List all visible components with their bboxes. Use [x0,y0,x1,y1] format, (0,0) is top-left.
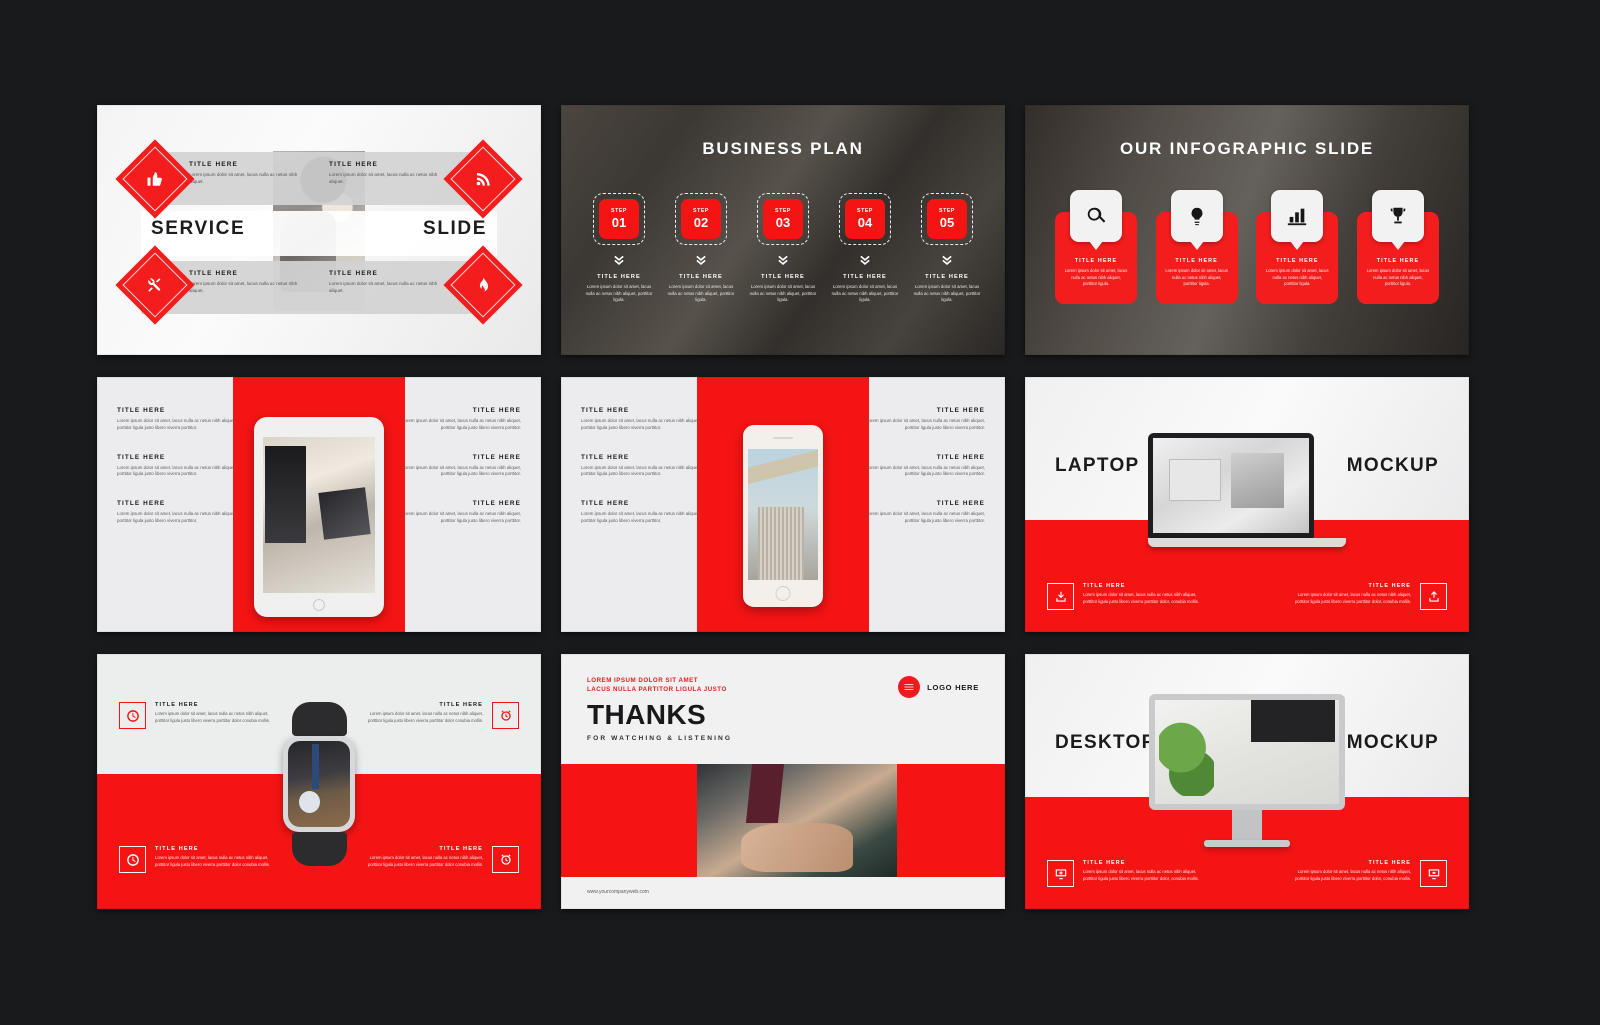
logo-label: LOGO HERE [927,683,979,692]
item-title: TITLE HERE [581,500,715,507]
chevron-double-down-icon [694,254,708,266]
item-title: TITLE HERE [851,407,985,414]
step-label: STEP [857,209,873,214]
item-title: TITLE HERE [117,454,251,461]
item-title: TITLE HERE [117,407,251,414]
slide-watch-mockup[interactable]: TITLE HERE Lorem ipsum dolor sit amet, l… [97,654,541,909]
laptop-feature-right: TITLE HERE Lorem ipsum dolor sit amet, l… [1287,583,1447,610]
card-text: Lorem ipsum dolor sit amet, lacus nulla … [1165,268,1229,288]
step-label: STEP [693,209,709,214]
step-dashed-frame: STEP 01 [593,193,645,245]
list-item: TITLE HERE Lorem ipsum dolor sit amet, l… [581,407,715,432]
card-text: Lorem ipsum dolor sit amet, lacus nulla … [1366,268,1430,288]
service-block-2: TITLE HERE Lorem ipsum dolor sit amet, l… [329,161,449,185]
slide-tablet-mockup[interactable]: TITLE HERE Lorem ipsum dolor sit amet, l… [97,377,541,632]
step-text: Lorem ipsum dolor sit amet, lacus nulla … [583,284,655,304]
item-text: Lorem ipsum dolor sit amet, lacus nulla … [117,465,251,479]
item-text: Lorem ipsum dolor sit amet, lacus nulla … [117,418,251,432]
feature-title: TITLE HERE [1287,583,1411,589]
thanks-url: www.yourcompanyweb.com [587,889,649,895]
lightbulb-icon [1171,190,1223,242]
feature-text: Lorem ipsum dolor sit amet, lacus nulla … [363,855,483,868]
item-title: TITLE HERE [117,500,251,507]
step-text: Lorem ipsum dolor sit amet, lacus nulla … [665,284,737,304]
step-label: STEP [775,209,791,214]
item-title: TITLE HERE [387,454,521,461]
slide-gallery-grid: TITLE HERE Lorem ipsum dolor sit amet, l… [97,105,1469,903]
desktop-word-left: DESKTOP [1055,732,1156,754]
step-title: TITLE HERE [911,274,983,280]
service-block-1-title: TITLE HERE [189,161,309,168]
item-title: TITLE HERE [851,454,985,461]
feature-text: Lorem ipsum dolor sit amet, lacus nulla … [155,711,275,724]
step-number: 05 [940,216,954,229]
service-block-3: TITLE HERE Lorem ipsum dolor sit amet, l… [189,270,309,294]
trophy-icon [1372,190,1424,242]
step-box: STEP 03 [763,199,803,239]
chevron-double-down-icon [858,254,872,266]
business-plan-steps: STEP 01 TITLE HERE Lorem ipsum dolor sit… [583,193,983,304]
step-box: STEP 04 [845,199,885,239]
phone-left-column: TITLE HERE Lorem ipsum dolor sit amet, l… [581,407,715,547]
laptop-feature-left: TITLE HERE Lorem ipsum dolor sit amet, l… [1047,583,1207,610]
thanks-handshake-photo [697,764,897,877]
laptop-lid [1148,433,1314,538]
step-box: STEP 01 [599,199,639,239]
item-text: Lorem ipsum dolor sit amet, lacus nulla … [387,418,521,432]
card-text: Lorem ipsum dolor sit amet, lacus nulla … [1064,268,1128,288]
feature-text-block: TITLE HERE Lorem ipsum dolor sit amet, l… [363,702,483,729]
phone-speaker [773,437,793,439]
logo-block[interactable]: LOGO HERE [898,676,979,698]
magnifier-icon [1070,190,1122,242]
watch-feature-bottom-right: TITLE HERE Lorem ipsum dolor sit amet, l… [363,846,519,873]
business-plan-title: BUSINESS PLAN [561,139,1005,159]
item-text: Lorem ipsum dolor sit amet, lacus nulla … [387,465,521,479]
feature-text: Lorem ipsum dolor sit amet, lacus nulla … [1287,869,1411,882]
item-text: Lorem ipsum dolor sit amet, lacus nulla … [387,511,521,525]
list-item: TITLE HERE Lorem ipsum dolor sit amet, l… [851,454,985,479]
service-block-4-title: TITLE HERE [329,270,449,277]
monitor-add-icon[interactable] [1047,860,1074,887]
thanks-subtitle-line2: LACUS NULLA PARTITOR LIGULA JUSTO [587,685,732,694]
list-item: TITLE HERE Lorem ipsum dolor sit amet, l… [117,500,251,525]
clock-icon[interactable] [119,846,146,873]
feature-text: Lorem ipsum dolor sit amet, lacus nulla … [363,711,483,724]
item-title: TITLE HERE [851,500,985,507]
list-item: TITLE HERE Lorem ipsum dolor sit amet, l… [387,407,521,432]
watch-screen [288,741,350,827]
service-block-1-text: Lorem ipsum dolor sit amet, lacus nulla … [189,171,309,185]
feature-text-block: TITLE HERE Lorem ipsum dolor sit amet, l… [363,846,483,873]
chevron-double-down-icon [940,254,954,266]
step-dashed-frame: STEP 02 [675,193,727,245]
watch-case [283,736,355,832]
item-text: Lorem ipsum dolor sit amet, lacus nulla … [581,418,715,432]
phone-home-button [776,586,791,601]
feature-text-block: TITLE HERE Lorem ipsum dolor sit amet, l… [155,846,275,873]
slide-phone-mockup[interactable]: TITLE HERE Lorem ipsum dolor sit amet, l… [561,377,1005,632]
chevron-double-down-icon [612,254,626,266]
upload-icon[interactable] [1420,583,1447,610]
feature-title: TITLE HERE [1083,583,1207,589]
feature-text-block: TITLE HERE Lorem ipsum dolor sit amet, l… [1287,860,1411,887]
list-item: TITLE HERE Lorem ipsum dolor sit amet, l… [581,500,715,525]
feature-title: TITLE HERE [363,702,483,708]
item-text: Lorem ipsum dolor sit amet, lacus nulla … [117,511,251,525]
step-title: TITLE HERE [665,274,737,280]
watch-strap-top [292,702,347,736]
desktop-feature-left: TITLE HERE Lorem ipsum dolor sit amet, l… [1047,860,1207,887]
chevron-double-down-icon [776,254,790,266]
tablet-device [254,417,384,617]
slide-service[interactable]: TITLE HERE Lorem ipsum dolor sit amet, l… [97,105,541,355]
step-text: Lorem ipsum dolor sit amet, lacus nulla … [911,284,983,304]
step-dashed-frame: STEP 03 [757,193,809,245]
smartwatch-device [283,702,355,866]
item-title: TITLE HERE [581,407,715,414]
monitor-body [1149,694,1345,810]
desktop-word-right: MOCKUP [1347,732,1439,754]
feature-text: Lorem ipsum dolor sit amet, lacus nulla … [155,855,275,868]
tablet-screen [263,437,375,593]
list-item: TITLE HERE Lorem ipsum dolor sit amet, l… [117,407,251,432]
step-label: STEP [939,209,955,214]
feature-text: Lorem ipsum dolor sit amet, lacus nulla … [1083,592,1207,605]
service-word-left: SERVICE [151,218,245,240]
step-dashed-frame: STEP 04 [839,193,891,245]
monitor-icon[interactable] [1420,860,1447,887]
feature-text: Lorem ipsum dolor sit amet, lacus nulla … [1287,592,1411,605]
step-box: STEP 02 [681,199,721,239]
thanks-header: LOREM IPSUM DOLOR SIT AMET LACUS NULLA P… [587,676,732,742]
feature-text-block: TITLE HERE Lorem ipsum dolor sit amet, l… [1083,583,1207,610]
step-item[interactable]: STEP 04 TITLE HERE Lorem ipsum dolor sit… [829,193,901,304]
watch-feature-bottom-left: TITLE HERE Lorem ipsum dolor sit amet, l… [119,846,275,873]
feature-title: TITLE HERE [1083,860,1207,866]
step-item[interactable]: STEP 03 TITLE HERE Lorem ipsum dolor sit… [747,193,819,304]
clock-icon[interactable] [119,702,146,729]
feature-text-block: TITLE HERE Lorem ipsum dolor sit amet, l… [1083,860,1207,887]
step-number: 02 [694,216,708,229]
step-item[interactable]: STEP 01 TITLE HERE Lorem ipsum dolor sit… [583,193,655,304]
card-text: Lorem ipsum dolor sit amet, lacus nulla … [1265,268,1329,288]
slide-infographic[interactable]: OUR INFOGRAPHIC SLIDE TITLE HERE Lorem i… [1025,105,1469,355]
watch-strap-bottom [292,832,347,866]
step-text: Lorem ipsum dolor sit amet, lacus nulla … [747,284,819,304]
phone-screen [748,449,818,580]
phone-device [743,425,823,607]
tablet-left-column: TITLE HERE Lorem ipsum dolor sit amet, l… [117,407,251,547]
item-text: Lorem ipsum dolor sit amet, lacus nulla … [851,511,985,525]
item-text: Lorem ipsum dolor sit amet, lacus nulla … [851,418,985,432]
monitor-neck [1232,810,1262,840]
feature-title: TITLE HERE [155,846,275,852]
desktop-feature-right: TITLE HERE Lorem ipsum dolor sit amet, l… [1287,860,1447,887]
waves-logo-icon [898,676,920,698]
item-title: TITLE HERE [581,454,715,461]
service-block-3-title: TITLE HERE [189,270,309,277]
list-item: TITLE HERE Lorem ipsum dolor sit amet, l… [581,454,715,479]
alarm-clock-icon[interactable] [492,846,519,873]
laptop-screen [1153,438,1309,533]
card-title: TITLE HERE [1165,258,1229,264]
service-word-right: SLIDE [423,218,487,240]
card-title: TITLE HERE [1366,258,1430,264]
thanks-headline: THANKS [587,699,732,731]
list-item: TITLE HERE Lorem ipsum dolor sit amet, l… [851,407,985,432]
download-icon[interactable] [1047,583,1074,610]
service-block-2-text: Lorem ipsum dolor sit amet, lacus nulla … [329,171,449,185]
service-block-3-text: Lorem ipsum dolor sit amet, lacus nulla … [189,280,309,294]
laptop-word-left: LAPTOP [1055,455,1140,477]
infographic-title: OUR INFOGRAPHIC SLIDE [1025,139,1469,159]
laptop-word-right: MOCKUP [1347,455,1439,477]
feature-text-block: TITLE HERE Lorem ipsum dolor sit amet, l… [155,702,275,729]
feature-title: TITLE HERE [1287,860,1411,866]
laptop-device [1148,433,1346,547]
item-text: Lorem ipsum dolor sit amet, lacus nulla … [851,465,985,479]
service-block-1: TITLE HERE Lorem ipsum dolor sit amet, l… [189,161,309,185]
monitor-screen [1155,700,1339,804]
list-item: TITLE HERE Lorem ipsum dolor sit amet, l… [387,454,521,479]
card-title: TITLE HERE [1064,258,1128,264]
step-title: TITLE HERE [583,274,655,280]
step-label: STEP [611,209,627,214]
feature-title: TITLE HERE [155,702,275,708]
step-number: 03 [776,216,790,229]
list-item: TITLE HERE Lorem ipsum dolor sit amet, l… [851,500,985,525]
watch-feature-top-left: TITLE HERE Lorem ipsum dolor sit amet, l… [119,702,275,729]
watch-feature-top-right: TITLE HERE Lorem ipsum dolor sit amet, l… [363,702,519,729]
step-item[interactable]: STEP 05 TITLE HERE Lorem ipsum dolor sit… [911,193,983,304]
item-text: Lorem ipsum dolor sit amet, lacus nulla … [581,511,715,525]
thanks-tagline: FOR WATCHING & LISTENING [587,735,732,742]
slide-business-plan[interactable]: BUSINESS PLAN STEP 01 TITLE HERE Lorem i… [561,105,1005,355]
feature-text-block: TITLE HERE Lorem ipsum dolor sit amet, l… [1287,583,1411,610]
laptop-base [1148,538,1346,547]
feature-text: Lorem ipsum dolor sit amet, lacus nulla … [1083,869,1207,882]
phone-right-column: TITLE HERE Lorem ipsum dolor sit amet, l… [851,407,985,547]
bar-chart-icon [1271,190,1323,242]
alarm-clock-icon[interactable] [492,702,519,729]
step-title: TITLE HERE [747,274,819,280]
monitor-foot [1204,840,1290,847]
step-box: STEP 05 [927,199,967,239]
step-item[interactable]: STEP 02 TITLE HERE Lorem ipsum dolor sit… [665,193,737,304]
service-block-4: TITLE HERE Lorem ipsum dolor sit amet, l… [329,270,449,294]
item-title: TITLE HERE [387,407,521,414]
step-title: TITLE HERE [829,274,901,280]
service-block-4-text: Lorem ipsum dolor sit amet, lacus nulla … [329,280,449,294]
step-number: 04 [858,216,872,229]
feature-title: TITLE HERE [363,846,483,852]
tablet-right-column: TITLE HERE Lorem ipsum dolor sit amet, l… [387,407,521,547]
step-dashed-frame: STEP 05 [921,193,973,245]
card-title: TITLE HERE [1265,258,1329,264]
thanks-subtitle-line1: LOREM IPSUM DOLOR SIT AMET [587,676,732,685]
service-block-2-title: TITLE HERE [329,161,449,168]
desktop-device [1149,694,1345,847]
slide-laptop-mockup[interactable]: LAPTOP MOCKUP TITLE HERE Lorem ipsum dol… [1025,377,1469,632]
step-number: 01 [612,216,626,229]
slide-thanks[interactable]: LOREM IPSUM DOLOR SIT AMET LACUS NULLA P… [561,654,1005,909]
step-text: Lorem ipsum dolor sit amet, lacus nulla … [829,284,901,304]
item-text: Lorem ipsum dolor sit amet, lacus nulla … [581,465,715,479]
list-item: TITLE HERE Lorem ipsum dolor sit amet, l… [117,454,251,479]
item-title: TITLE HERE [387,500,521,507]
list-item: TITLE HERE Lorem ipsum dolor sit amet, l… [387,500,521,525]
slide-desktop-mockup[interactable]: DESKTOP MOCKUP TITLE HERE Lorem ipsum do… [1025,654,1469,909]
tablet-home-button [313,599,325,611]
